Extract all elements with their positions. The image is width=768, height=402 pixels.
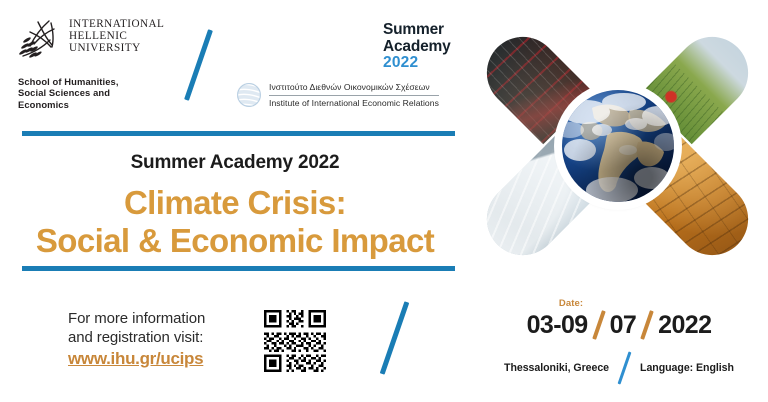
event-kicker: Summer Academy 2022: [0, 152, 470, 174]
event-year: 2022: [658, 313, 711, 338]
school-name: School of Humanities, Social Sciences an…: [18, 76, 119, 110]
date-separator-1-icon: [592, 310, 606, 340]
page-title-line-1: Climate Crisis:: [0, 186, 470, 220]
badge-line-1: Summer: [383, 22, 451, 38]
institute-divider: [269, 95, 439, 96]
summer-academy-badge: Summer Academy 2022: [383, 22, 451, 71]
institute-name-greek: Ινστιτούτο Διεθνών Οικονομικών Σχέσεων: [269, 82, 439, 93]
qr-code-icon[interactable]: [259, 305, 331, 377]
date-separator-2-icon: [640, 310, 654, 340]
event-day-range: 03-09: [527, 313, 588, 338]
page-title: Climate Crisis: Social & Economic Impact: [0, 186, 470, 257]
globe-grid-icon: [236, 82, 262, 108]
event-month: 07: [610, 313, 637, 338]
event-language: Language: English: [640, 362, 734, 374]
title-rule-bottom: [22, 266, 455, 271]
registration-info: For more information and registration vi…: [68, 310, 248, 369]
school-name-line-3: Economics: [18, 99, 119, 110]
badge-line-2: Academy: [383, 39, 451, 55]
school-name-line-2: Social Sciences and: [18, 87, 119, 98]
poster-canvas: INTERNATIONAL HELLENIC UNIVERSITY School…: [0, 0, 768, 402]
institute-name-english: Institute of International Economic Rela…: [269, 98, 439, 109]
info-line-2: and registration visit:: [68, 329, 248, 348]
event-meta: Thessaloniki, Greece Language: English: [470, 351, 768, 385]
school-name-line-1: School of Humanities,: [18, 76, 119, 87]
registration-url-link[interactable]: www.ihu.gr/ucips: [68, 349, 248, 369]
image-collage: [482, 12, 754, 280]
university-name: INTERNATIONAL HELLENIC UNIVERSITY: [69, 16, 164, 54]
olive-branch-emblem-icon: [18, 16, 62, 62]
page-title-line-2: Social & Economic Impact: [0, 224, 470, 258]
institute-lockup: Ινστιτούτο Διεθνών Οικονομικών Σχέσεων I…: [236, 82, 439, 108]
decorative-slash-bottom: [380, 301, 409, 374]
meta-separator-icon: [618, 351, 632, 384]
event-date: 03-09 07 2022: [470, 310, 768, 340]
university-logo-block: INTERNATIONAL HELLENIC UNIVERSITY: [18, 16, 198, 62]
event-details: Date: 03-09 07 2022 Thessaloniki, Greece…: [470, 298, 768, 385]
university-name-line-3: UNIVERSITY: [69, 43, 164, 55]
university-name-line-2: HELLENIC: [69, 31, 164, 43]
info-line-1: For more information: [68, 310, 248, 329]
date-label: Date:: [374, 298, 768, 309]
earth-globe-image: [558, 86, 678, 206]
title-rule-top: [22, 131, 455, 136]
event-location: Thessaloniki, Greece: [504, 362, 609, 374]
badge-year: 2022: [383, 55, 451, 71]
